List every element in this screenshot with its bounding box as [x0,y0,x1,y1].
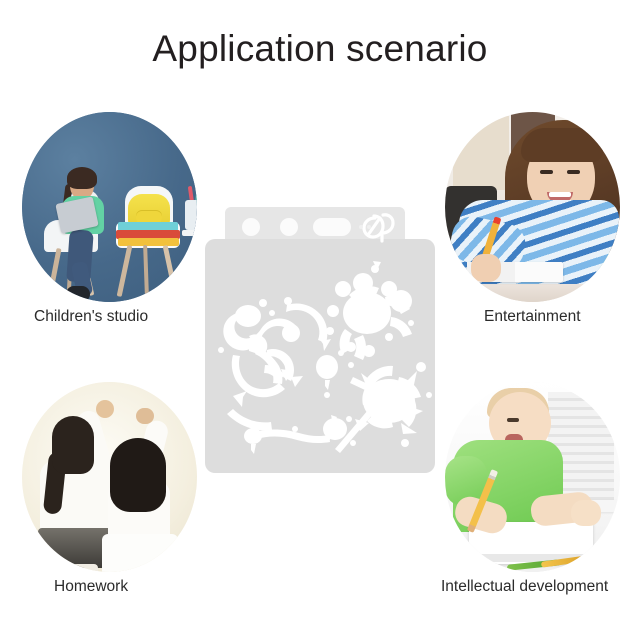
boy-eye [507,418,519,422]
girl-hand [471,254,501,282]
button-pill [313,218,351,236]
girl-eye-left [540,170,553,174]
girl2-hand [136,408,154,424]
wall-shelf [182,230,197,236]
indicator-dot [367,225,371,229]
wall-panel [453,116,509,190]
product-writing-tablet [203,205,437,475]
writing-tablet-illustration [203,205,437,475]
indicator-dot [359,225,363,229]
girl-bangs [521,128,603,162]
girl-shoe [66,286,90,302]
application-scenario-page: Application scenario [0,0,640,640]
photo-homework [22,382,197,572]
girl1-legs [52,564,98,572]
girl-eye-right [567,170,580,174]
scenario-label-childrens-studio: Children's studio [34,308,148,326]
pencil-jar [185,200,197,230]
scenario-label-entertainment: Entertainment [484,308,581,326]
page-title: Application scenario [0,28,640,70]
girl-hair [67,167,97,189]
button-round-2 [280,218,298,236]
scenario-label-homework: Homework [54,578,128,596]
scenario-label-intellectual-development: Intellectual development [441,578,608,596]
boy-hand-right [571,500,601,526]
girl-teeth [549,192,571,197]
girl1-hand [96,400,114,418]
button-round-1 [242,218,260,236]
photo-childrens-studio [22,112,197,302]
photo-entertainment [445,112,620,302]
girl1-hair [52,416,94,474]
photo-intellectual-development [445,382,620,572]
girl2-skirt [102,534,178,572]
girl2-hair [110,438,166,512]
